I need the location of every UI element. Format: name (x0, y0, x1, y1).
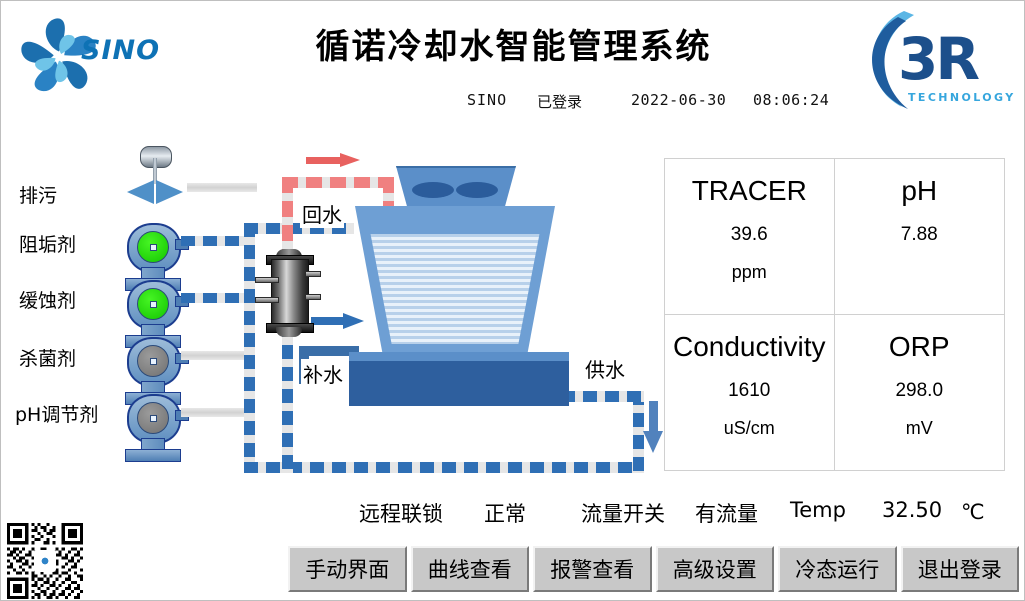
pump-shaft-dot (150, 358, 157, 365)
fan-blade-left (412, 182, 454, 198)
cell-value: 1610 (728, 380, 770, 402)
valve-body-left (127, 180, 154, 204)
bottom-button-bar: 手动界面 曲线查看 报警查看 高级设置 冷态运行 退出登录 (288, 546, 1019, 592)
hx-nozzle-left-upper (255, 277, 279, 283)
blowdown-valve-icon[interactable] (123, 144, 187, 206)
pump-shaft-dot (150, 244, 157, 251)
arrow-shaft (306, 157, 344, 164)
cell-title: Conductivity (673, 329, 826, 364)
cell-unit: ppm (732, 262, 767, 283)
dosing-label-corrosion-inhibitor: 缓蚀剂 (19, 286, 76, 313)
hx-nozzle-left-lower (255, 297, 279, 303)
return-flow-arrow-icon (306, 153, 362, 167)
arrow-shaft (649, 401, 658, 435)
dosing-line-scale-inhibitor (181, 236, 253, 246)
dosing-line-corrosion-inhibitor (181, 293, 253, 303)
cell-title: TRACER (692, 173, 807, 208)
page-title: 循诺冷却水智能管理系统 (1, 19, 1025, 68)
dosing-label-biocide: 杀菌剂 (19, 344, 76, 371)
button-logout[interactable]: 退出登录 (901, 546, 1020, 592)
dosing-label-scale-inhibitor: 阻垢剂 (19, 230, 76, 257)
flow-switch-label: 流量开关 (581, 498, 665, 528)
qr-center-logo (34, 550, 56, 572)
supply-flow-arrow-icon (643, 401, 663, 453)
cell-value: 7.88 (901, 224, 938, 246)
arrow-head (643, 431, 663, 453)
hx-nozzle-right-lower (305, 294, 321, 300)
flow-switch-value: 有流量 (695, 498, 758, 528)
label-return-water: 回水 (300, 199, 344, 228)
pump-shaft-dot (150, 415, 157, 422)
loop-pipe-bottom (244, 462, 644, 473)
button-advanced-settings[interactable]: 高级设置 (656, 546, 775, 592)
cell-value: 298.0 (895, 380, 943, 402)
button-trend-curves[interactable]: 曲线查看 (411, 546, 530, 592)
tower-fill-media (367, 234, 543, 344)
loop-pipe-left-vertical (244, 223, 255, 473)
pump-base (125, 449, 181, 462)
cooling-tower[interactable] (341, 166, 601, 416)
temperature-value: 32.50 (882, 498, 942, 522)
qr-code[interactable] (7, 523, 83, 599)
cell-unit: uS/cm (724, 418, 775, 439)
valve-body-right (156, 180, 183, 204)
header-statusbar: SINO 已登录 2022-06-30 08:06:24 (1, 91, 1025, 115)
system-date: 2022-06-30 (631, 91, 726, 109)
heat-exchanger-icon[interactable] (263, 249, 319, 335)
pump-shaft-dot (150, 301, 157, 308)
arrow-head (340, 153, 360, 167)
button-manual-interface[interactable]: 手动界面 (288, 546, 407, 592)
cell-title: ORP (889, 329, 950, 364)
cell-unit: mV (906, 418, 933, 439)
cell-value: 39.6 (731, 224, 768, 246)
dosing-line-ph-adjuster (181, 408, 253, 417)
fan-blade-right (456, 182, 498, 198)
cell-title: pH (901, 173, 937, 208)
measurement-cell-conductivity[interactable]: Conductivity 1610 uS/cm (665, 315, 835, 471)
tower-basin (349, 352, 569, 406)
pump-ph-adjuster[interactable] (119, 394, 185, 464)
button-alarm-view[interactable]: 报警查看 (533, 546, 652, 592)
dosing-label-ph-adjuster: pH调节剂 (15, 400, 98, 427)
tower-fan-housing (396, 166, 516, 210)
dosing-line-biocide (181, 351, 253, 360)
login-state: 已登录 (537, 91, 582, 112)
blowdown-pipe (187, 183, 257, 192)
label-supply-water: 供水 (583, 354, 627, 383)
hx-shell (271, 259, 309, 327)
dosing-label-blowdown: 排污 (19, 181, 57, 208)
measurement-cell-tracer[interactable]: TRACER 39.6 ppm (665, 159, 835, 315)
hx-dome-bottom (276, 327, 302, 337)
status-row: 远程联锁 正常 流量开关 有流量 Temp 32.50 ℃ (1, 498, 1025, 528)
measurement-cell-ph[interactable]: pH 7.88 (835, 159, 1005, 315)
logged-user: SINO (467, 91, 507, 109)
measurement-panel: TRACER 39.6 ppm pH 7.88 Conductivity 161… (664, 158, 1005, 471)
button-cold-run[interactable]: 冷态运行 (778, 546, 897, 592)
system-time: 08:06:24 (753, 91, 829, 109)
label-makeup-water: 补水 (301, 359, 345, 388)
measurement-cell-orp[interactable]: ORP 298.0 mV (835, 315, 1005, 471)
temperature-label: Temp (790, 498, 846, 522)
interlock-value: 正常 (484, 498, 526, 528)
hx-nozzle-right-upper (305, 271, 321, 277)
hmi-screen: SINO 3R TECHNOLOGY 循诺冷却水智能管理系统 SINO 已登录 … (0, 0, 1025, 601)
temperature-unit: ℃ (961, 500, 985, 524)
interlock-label: 远程联锁 (359, 498, 443, 528)
